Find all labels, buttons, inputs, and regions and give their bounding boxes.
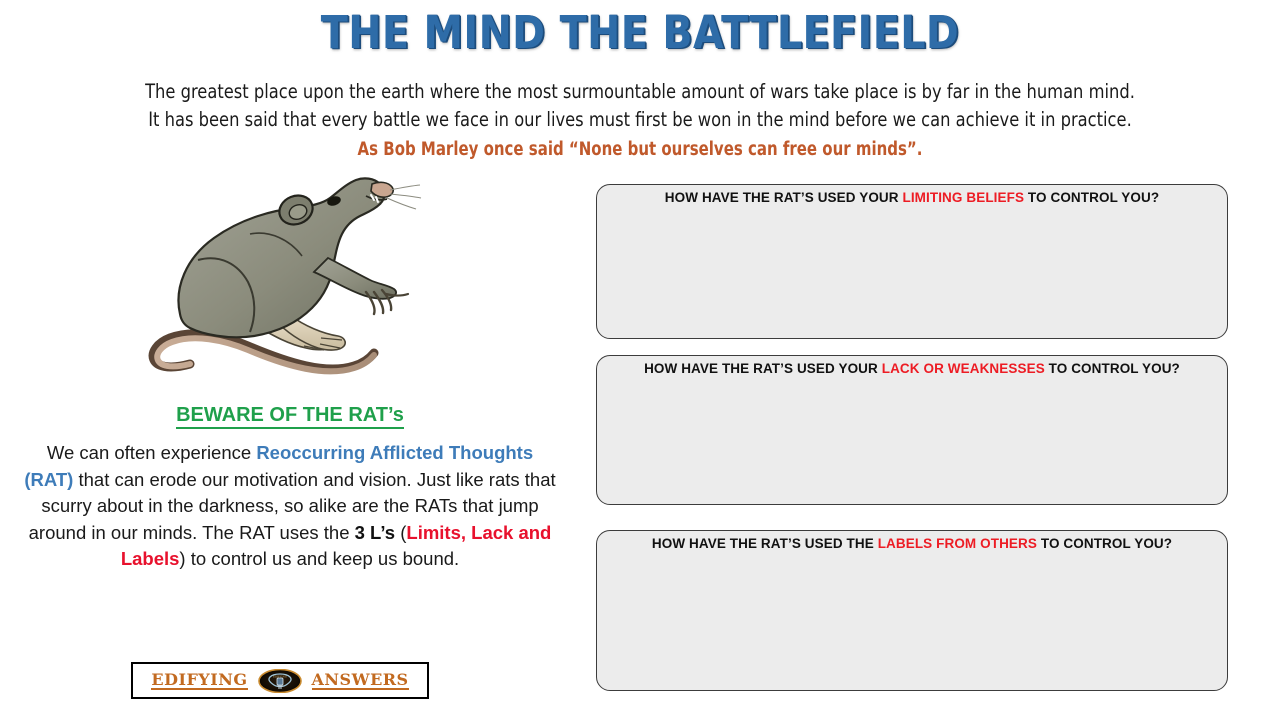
answer-box-1-header: HOW HAVE THE RAT’S USED YOUR LIMITING BE… (597, 190, 1227, 205)
rat-body-part-1: We can often experience (47, 442, 256, 463)
answer-box-2-emphasis: LACK OR WEAKNESSES (882, 361, 1045, 376)
rat-illustration (128, 168, 428, 408)
answer-box-3-emphasis: LABELS FROM OTHERS (878, 536, 1037, 551)
beware-heading-text: BEWARE OF THE RAT’s (176, 404, 404, 429)
intro-line-1: The greatest place upon the earth where … (82, 78, 1198, 106)
svg-text:EDIFYING: EDIFYING (273, 674, 287, 678)
answer-box-lack-or-weaknesses[interactable]: HOW HAVE THE RAT’S USED YOUR LACK OR WEA… (596, 355, 1228, 505)
beware-of-the-rats-heading: BEWARE OF THE RAT’s (20, 404, 560, 427)
answer-box-3-suffix: TO CONTROL YOU? (1037, 536, 1172, 551)
answer-box-3-prefix: HOW HAVE THE RAT’S USED THE (652, 536, 878, 551)
answer-box-1-emphasis: LIMITING BELIEFS (902, 190, 1024, 205)
rat-body-part-3: ( (395, 522, 406, 543)
lightbulb-emblem-icon: EDIFYING (258, 669, 302, 693)
answer-box-1-prefix: HOW HAVE THE RAT’S USED YOUR (665, 190, 903, 205)
answer-box-2-header: HOW HAVE THE RAT’S USED YOUR LACK OR WEA… (597, 361, 1227, 376)
rat-description-paragraph: We can often experience Reoccurring Affl… (20, 440, 560, 573)
answer-box-limiting-beliefs[interactable]: HOW HAVE THE RAT’S USED YOUR LIMITING BE… (596, 184, 1228, 339)
logo-word-answers: ANSWERS (312, 671, 409, 690)
rat-body-highlight-bold: 3 L’s (355, 522, 395, 543)
answer-input-area-3[interactable] (597, 551, 1227, 684)
edifying-answers-logo: EDIFYING EDIFYING ANSWERS (131, 662, 429, 699)
answer-box-labels-from-others[interactable]: HOW HAVE THE RAT’S USED THE LABELS FROM … (596, 530, 1228, 691)
intro-quote-bob-marley: As Bob Marley once said “None but oursel… (100, 136, 1180, 164)
answer-input-area-1[interactable] (597, 205, 1227, 332)
logo-word-edifying: EDIFYING (151, 671, 247, 690)
answer-box-3-header: HOW HAVE THE RAT’S USED THE LABELS FROM … (597, 536, 1227, 551)
intro-line-2: It has been said that every battle we fa… (82, 106, 1198, 134)
answer-input-area-2[interactable] (597, 376, 1227, 498)
answer-box-2-suffix: TO CONTROL YOU? (1045, 361, 1180, 376)
intro-paragraph: The greatest place upon the earth where … (40, 78, 1240, 164)
answer-box-1-suffix: TO CONTROL YOU? (1024, 190, 1159, 205)
rat-body-part-4: ) to control us and keep us bound. (179, 548, 459, 569)
answer-box-2-prefix: HOW HAVE THE RAT’S USED YOUR (644, 361, 882, 376)
page-title: THE MIND THE BATTLEFIELD (77, 6, 1203, 59)
